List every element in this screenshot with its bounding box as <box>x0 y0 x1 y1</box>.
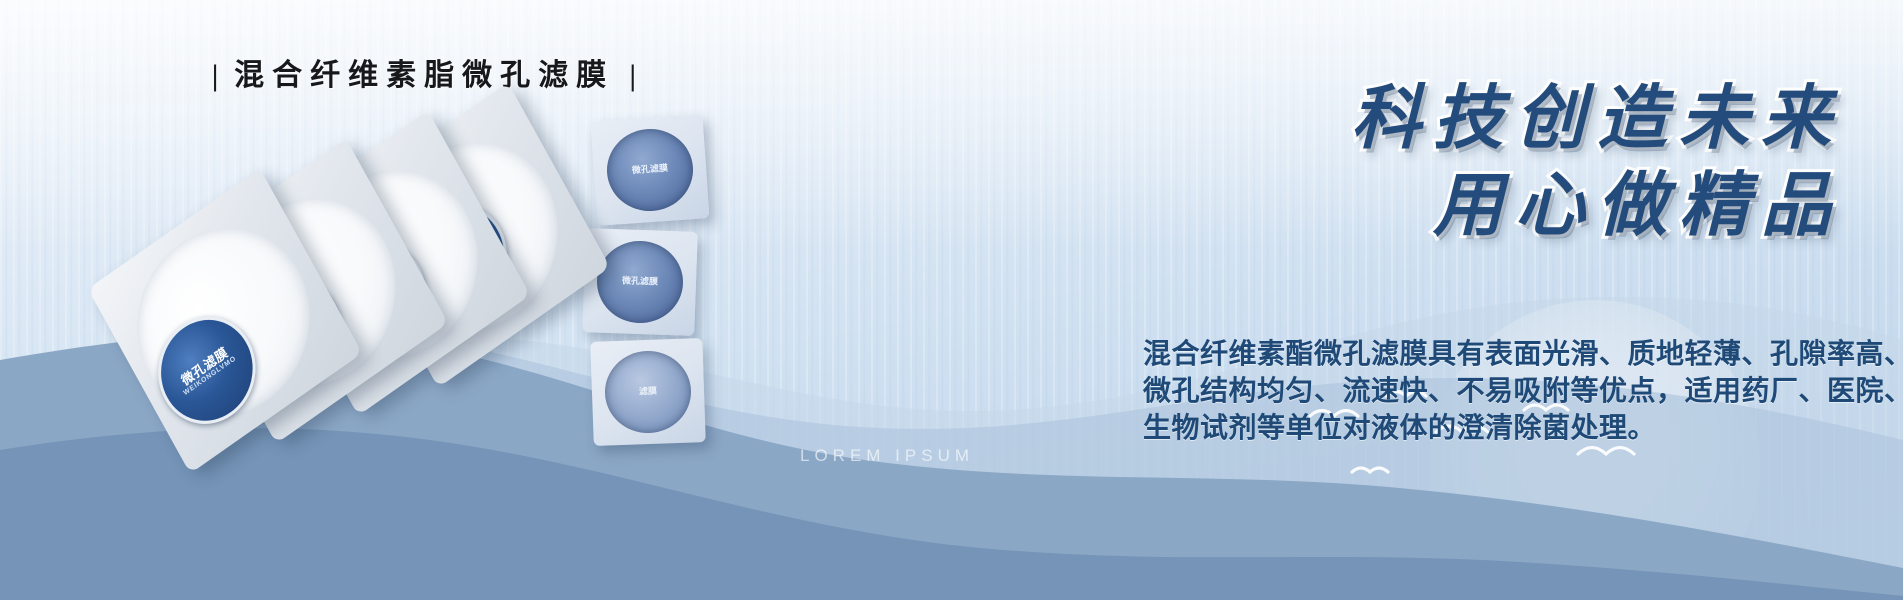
headline-line-2: 用心做精品 <box>703 165 1843 246</box>
sample-disc-label: 微孔滤膜 <box>604 126 696 214</box>
sample-disc-label: 微孔滤膜 <box>596 240 685 325</box>
headline-block: 科技创造未来 用心做精品 <box>703 78 1843 245</box>
title-text: 混合纤维素脂微孔滤膜 <box>234 59 614 92</box>
description-line-3: 生物试剂等单位对液体的澄清除菌处理。 <box>1143 411 1843 448</box>
product-pack-group: 微孔滤膜 WEIKONGLVMO 滤膜 WEIKONGLVMO 孔滤膜 WEIK… <box>110 120 580 440</box>
title-bar-right: | <box>630 59 637 92</box>
promo-banner: | 混合纤维素脂微孔滤膜 | 微孔滤膜 WEIKONGLVMO 滤膜 WEIKO… <box>0 0 1903 600</box>
sample-square: 微孔滤膜 <box>591 114 710 226</box>
sample-square-stack: 微孔滤膜 微孔滤膜 滤膜 <box>578 118 708 448</box>
sample-disc-label: 滤膜 <box>604 350 693 435</box>
description-line-2: 微孔结构均匀、流速快、不易吸附等优点，适用药厂、医院、 <box>1143 374 1843 411</box>
watermark-text: LOREM IPSUM <box>800 446 974 466</box>
description-line-1: 混合纤维素酯微孔滤膜具有表面光滑、质地轻薄、孔隙率高、 <box>1143 337 1843 374</box>
headline-line-1: 科技创造未来 <box>703 78 1843 159</box>
sample-square: 微孔滤膜 <box>582 228 698 336</box>
description-paragraph: 混合纤维素酯微孔滤膜具有表面光滑、质地轻薄、孔隙率高、 微孔结构均匀、流速快、不… <box>1143 337 1843 448</box>
section-title: | 混合纤维素脂微孔滤膜 | <box>212 50 636 94</box>
sample-square: 滤膜 <box>590 338 706 446</box>
title-bar-left: | <box>212 59 219 92</box>
